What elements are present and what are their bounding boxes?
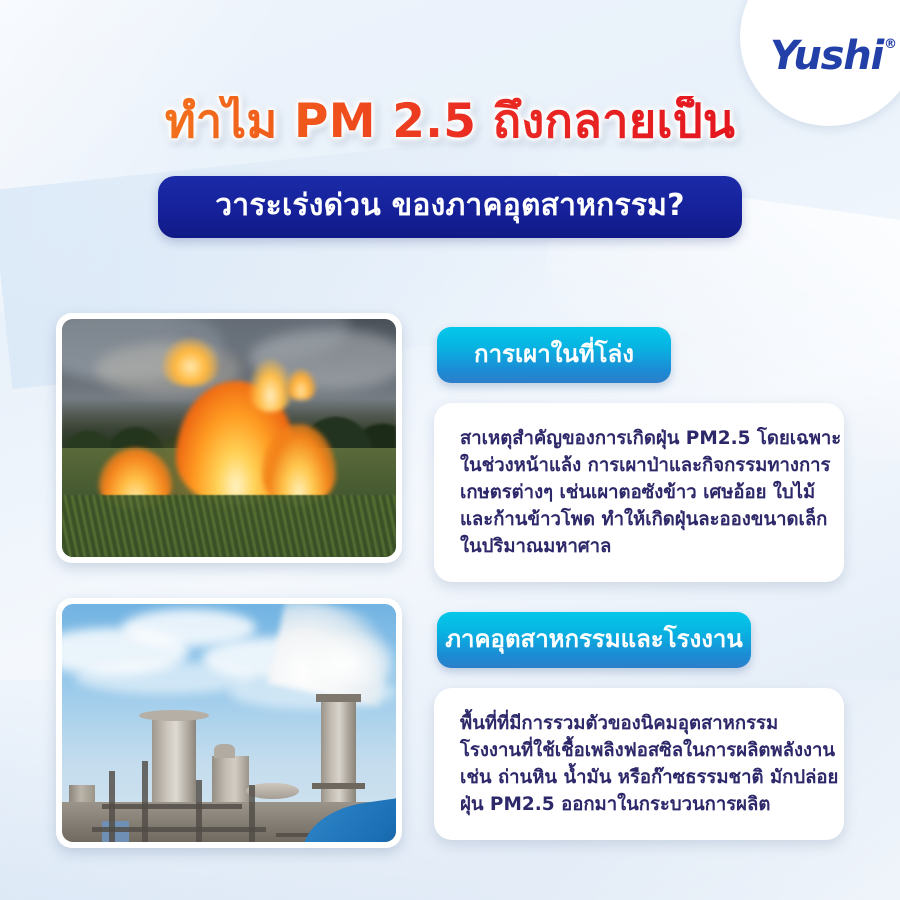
body-line: เกษตรต่างๆ เช่นเผาตอซังข้าว เศษอ้อย ใบไม… bbox=[460, 479, 820, 506]
title-block: ทำไม PM 2.5 ถึงกลายเป็น bbox=[0, 96, 900, 149]
body-line: เช่น ถ่านหิน น้ำมัน หรือก๊าซธรรมชาติ มัก… bbox=[460, 764, 820, 791]
factory-girder-shape bbox=[249, 785, 255, 842]
yushi-logo: Yushi ® bbox=[770, 36, 897, 76]
page-title: ทำไม PM 2.5 ถึงกลายเป็น bbox=[159, 96, 741, 149]
smoke-plume-shape bbox=[309, 633, 396, 685]
factory-girder-shape bbox=[109, 771, 115, 842]
background-streak-top-left bbox=[0, 0, 330, 330]
factory-girder-shape bbox=[142, 761, 148, 842]
foreground-grass-shape bbox=[62, 495, 396, 557]
factory-girder-shape bbox=[196, 780, 202, 842]
section-heading-open-burning: การเผาในที่โล่ง bbox=[437, 327, 671, 383]
body-line: ในช่วงหน้าแล้ง การเผาป่าและกิจกรรมทางการ bbox=[460, 452, 820, 479]
text-card-open-burning: สาเหตุสำคัญของการเกิดฝุ่น PM2.5 โดยเฉพาะ… bbox=[434, 403, 844, 582]
body-line: ในปริมาณมหาศาล bbox=[460, 533, 820, 560]
body-line: ฝุ่น PM2.5 ออกมาในกระบวนการผลิต bbox=[460, 791, 820, 818]
text-card-industry: พื้นที่ที่มีการรวมตัวของนิคมอุตสาหกรรม โ… bbox=[434, 688, 844, 840]
photo-card-industry bbox=[56, 598, 402, 848]
body-line: โรงงานที่ใช้เชื้อเพลิงฟอสซิลในการผลิตพลั… bbox=[460, 737, 820, 764]
photo-card-open-burning bbox=[56, 313, 402, 563]
body-line: และก้านข้าวโพด ทำให้เกิดฝุ่นละอองขนาดเล็… bbox=[460, 506, 820, 533]
body-line: สาเหตุสำคัญของการเกิดฝุ่น PM2.5 โดยเฉพาะ bbox=[460, 425, 820, 452]
subtitle-banner: วาระเร่งด่วน ของภาคอุตสาหกรรม? bbox=[158, 176, 742, 238]
section-heading-label: การเผาในที่โล่ง bbox=[474, 342, 634, 369]
factory-girder-shape bbox=[102, 804, 242, 809]
section-heading-label: ภาคอุตสาหกรรมและโรงงาน bbox=[445, 627, 743, 654]
logo-wordmark: Yushi bbox=[770, 36, 883, 76]
body-line: พื้นที่ที่มีการรวมตัวของนิคมอุตสาหกรรม bbox=[460, 710, 820, 737]
industrial-factory-photo bbox=[62, 604, 396, 842]
factory-girder-shape bbox=[92, 827, 266, 833]
open-field-burning-photo bbox=[62, 319, 396, 557]
registered-trademark-icon: ® bbox=[884, 38, 897, 51]
subtitle-text: วาระเร่งด่วน ของภาคอุตสาหกรรม? bbox=[215, 191, 684, 224]
section-heading-industry: ภาคอุตสาหกรรมและโรงงาน bbox=[437, 612, 751, 668]
flame-ember-shape bbox=[286, 369, 316, 400]
